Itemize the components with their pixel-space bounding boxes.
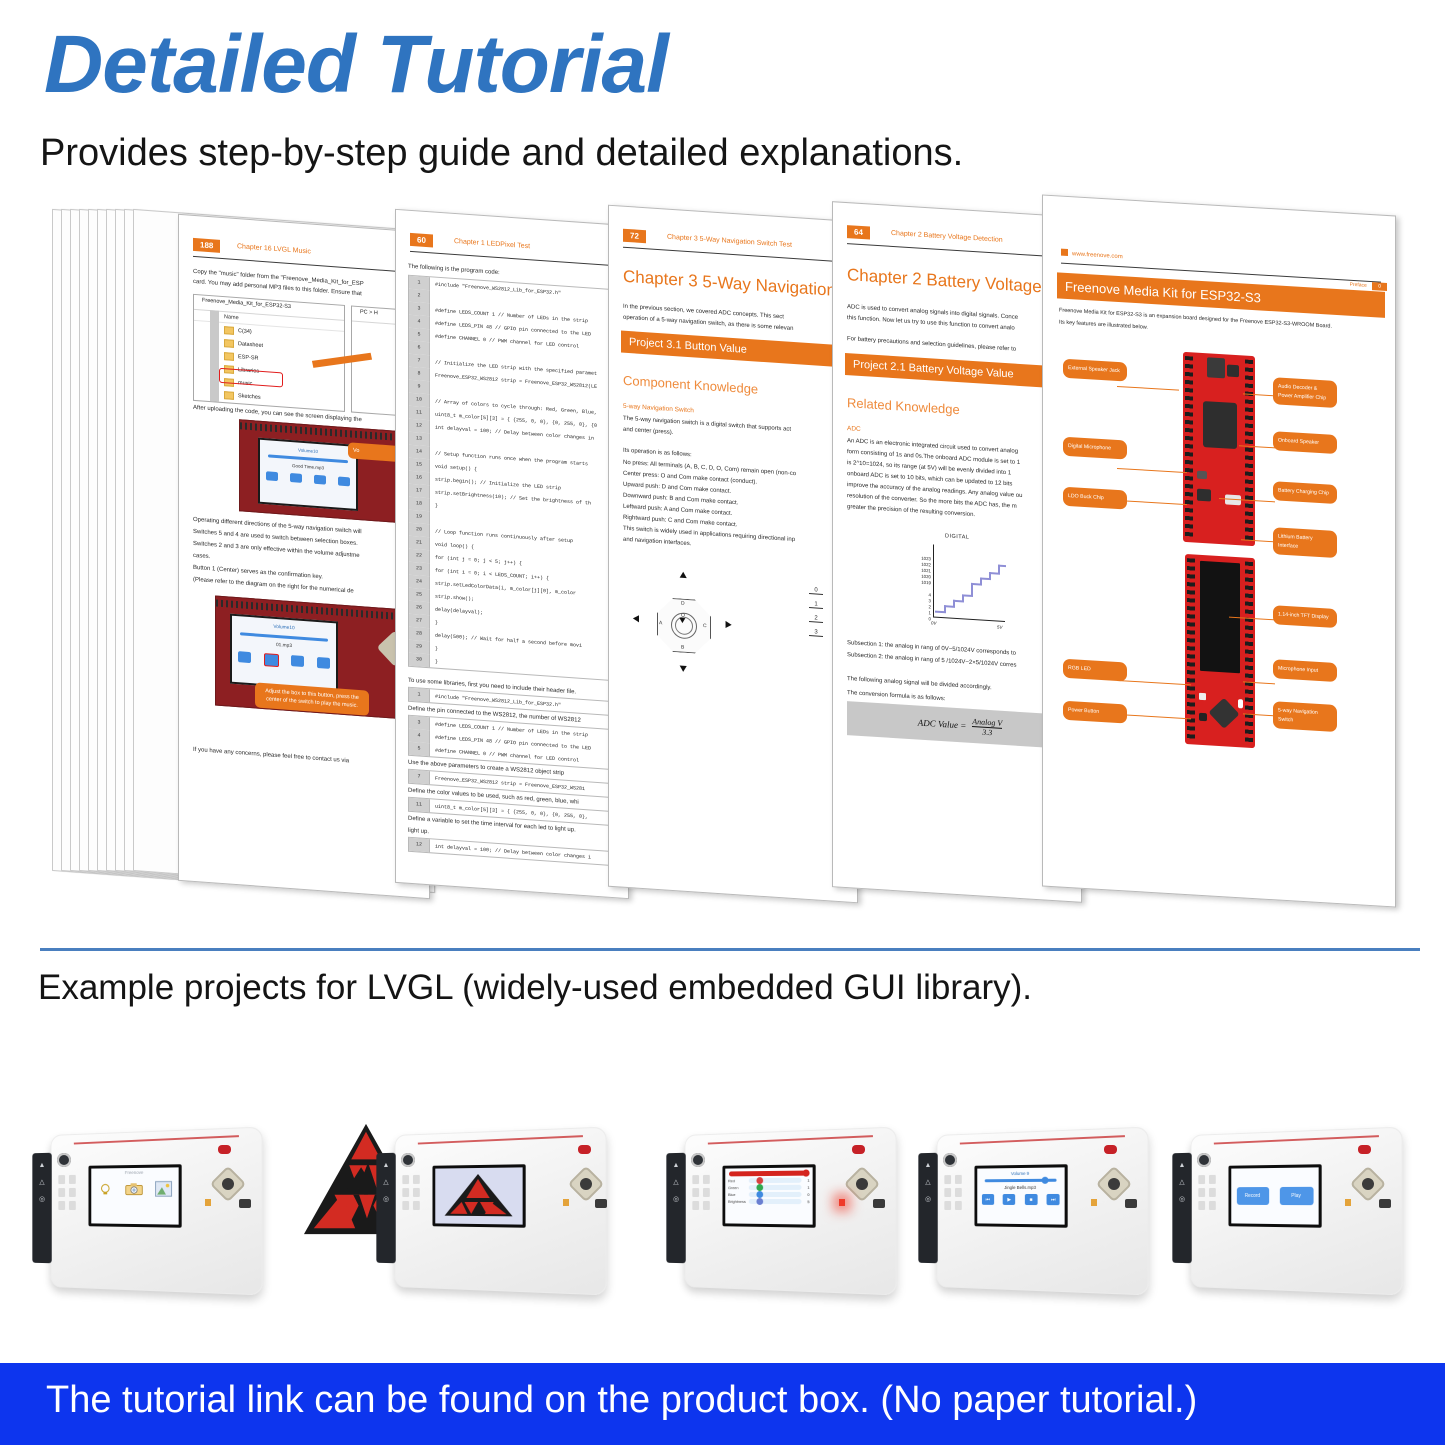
speaker-jack bbox=[401, 1153, 415, 1167]
antenna-icon: ▲ bbox=[1172, 1162, 1191, 1169]
transport-buttons: ⏮ ▶ ■ ⏭ bbox=[977, 1194, 1064, 1205]
terminal-c-label: C bbox=[703, 623, 707, 629]
rgb-led-glow bbox=[839, 1199, 845, 1206]
leader-line bbox=[1117, 680, 1191, 686]
reset-button[interactable] bbox=[578, 1145, 591, 1154]
prev-icon bbox=[238, 651, 251, 663]
description-line: and center (press). bbox=[623, 426, 673, 439]
usb-port bbox=[1125, 1199, 1137, 1208]
right-pin-header bbox=[1245, 562, 1253, 744]
running-head-text: Chapter 16 LVGL Music bbox=[237, 243, 311, 255]
top-red-bar bbox=[729, 1170, 809, 1176]
arrow-right-icon: ⯈ bbox=[723, 618, 733, 632]
device-side-panel: ▲ △ ◎ bbox=[918, 1153, 937, 1264]
grill-slot bbox=[58, 1201, 65, 1210]
brand-square-icon bbox=[1061, 249, 1068, 256]
slider-label: Red bbox=[728, 1178, 749, 1183]
speaker-jack bbox=[691, 1153, 705, 1167]
file-explorer-screenshot: Freenove_Media_Kit_for_ESP32-S3 Name C(3… bbox=[193, 294, 345, 412]
explorer-item-label: C(34) bbox=[238, 328, 252, 335]
chart-y-axis bbox=[933, 544, 934, 616]
folder-icon bbox=[224, 326, 234, 335]
slider-track[interactable] bbox=[749, 1199, 802, 1204]
slider-handle[interactable] bbox=[756, 1191, 763, 1198]
leader-line bbox=[1117, 386, 1179, 391]
tutorial-page-ledpixel: 60 Chapter 1 LEDPixel Test The following… bbox=[395, 209, 629, 899]
antenna-icon: ▲ bbox=[376, 1162, 395, 1169]
sensor-icon: ◎ bbox=[918, 1195, 937, 1203]
folder-icon bbox=[224, 391, 234, 400]
device-rgb-sliders: ▲ △ ◎ Red 1 bbox=[662, 1123, 907, 1298]
usb-port bbox=[1379, 1199, 1391, 1208]
code-text: } bbox=[430, 658, 438, 665]
track-label: Jingle Bells.mp3 bbox=[977, 1185, 1064, 1190]
reset-button[interactable] bbox=[218, 1145, 231, 1154]
footer-text: The tutorial link can be found on the pr… bbox=[46, 1379, 1197, 1422]
code-text: delay(delayval); bbox=[430, 606, 483, 616]
sensor-icon: ◎ bbox=[666, 1195, 685, 1203]
slider-track[interactable] bbox=[749, 1192, 802, 1197]
line-number: 5 bbox=[409, 742, 430, 756]
gallery-icon bbox=[154, 1181, 174, 1197]
home-icon-row bbox=[91, 1181, 178, 1197]
ldo-buck-chip bbox=[1197, 489, 1211, 502]
x-tick: 0V bbox=[931, 620, 936, 625]
folder-icon bbox=[224, 352, 234, 361]
explorer-item-label: ESP-SR bbox=[238, 354, 258, 362]
terminal-o-label: O bbox=[681, 613, 685, 619]
lcd-surface bbox=[435, 1167, 522, 1224]
label-power-button: Power Button bbox=[1063, 701, 1127, 723]
subsection-title: ADC bbox=[847, 425, 861, 433]
device-side-panel: ▲ △ ◎ bbox=[376, 1153, 395, 1264]
y-tick: 1019 bbox=[911, 579, 931, 585]
formula-fraction: Analog V 3.3 bbox=[972, 716, 1002, 737]
note-line: For battery precautions and selection gu… bbox=[847, 335, 1016, 355]
device-showcase-row: ▲ △ ◎ Freenove bbox=[0, 1035, 1445, 1325]
label-digital-microphone: Digital Microphone bbox=[1063, 437, 1127, 459]
tutorial-page-lvgl-music: 188 Chapter 16 LVGL Music Copy the "musi… bbox=[178, 214, 430, 900]
label-ldo-buck-chip: LDO Buck Chip bbox=[1063, 487, 1127, 509]
section-title: Related Knowledge bbox=[847, 395, 960, 417]
code-block-delay: 12int delayval = 100; // Delay between c… bbox=[408, 837, 628, 868]
chart-step bbox=[971, 583, 973, 597]
grill-slot bbox=[402, 1188, 409, 1197]
transport-buttons bbox=[232, 651, 336, 672]
kit-page-label-text: Preface bbox=[1350, 282, 1367, 289]
scale-tick: 0 bbox=[809, 587, 823, 595]
microphone-input bbox=[1238, 699, 1243, 708]
lvgl-band-text: Example projects for LVGL (widely-used e… bbox=[38, 968, 1032, 1008]
kit-page-label: Preface 0 bbox=[1350, 282, 1387, 290]
label-5way-navigation-switch: 5-way Navigation Switch bbox=[1273, 701, 1337, 732]
device-lcd: Volume10 01.mp3 bbox=[230, 614, 338, 692]
speaker-grill bbox=[400, 1173, 423, 1239]
onboard-speaker bbox=[1203, 401, 1237, 449]
grill-slot bbox=[58, 1175, 65, 1184]
device-screen: Freenove bbox=[88, 1164, 181, 1227]
grill-slot bbox=[703, 1175, 710, 1184]
speaker-grill bbox=[1196, 1173, 1219, 1239]
code-text: strip.show(); bbox=[430, 593, 474, 602]
device-screen: Record Play bbox=[1228, 1164, 1321, 1227]
play-icon bbox=[290, 473, 302, 483]
device-side-panel: ▲ △ ◎ bbox=[666, 1153, 685, 1264]
formula-left: ADC Value = bbox=[918, 718, 967, 731]
label-audio-decoder-amp: Audio Decoder & Power Amplifier Chip bbox=[1273, 377, 1337, 408]
label-microphone-input: Microphone Input bbox=[1273, 659, 1337, 681]
stop-icon bbox=[291, 655, 304, 667]
status-led bbox=[563, 1199, 569, 1206]
chart-title: DIGITAL bbox=[945, 533, 970, 541]
slider-value: 1 bbox=[802, 1178, 810, 1183]
media-board-top-photo bbox=[1183, 352, 1255, 546]
speaker-grill bbox=[56, 1173, 79, 1239]
folder-icon bbox=[224, 339, 234, 348]
play-icon[interactable]: ▶ bbox=[1003, 1194, 1015, 1205]
slider-handle bbox=[803, 1169, 810, 1176]
grill-slot bbox=[944, 1188, 951, 1197]
grill-slot bbox=[1209, 1188, 1216, 1197]
slider-value: 0 bbox=[802, 1192, 810, 1197]
speaker-jack bbox=[1197, 1153, 1211, 1167]
camera-icon bbox=[124, 1181, 143, 1197]
sensor-icon: ◎ bbox=[1172, 1195, 1191, 1203]
label-onboard-speaker: Onboard Speaker bbox=[1273, 431, 1337, 453]
page-subtitle: Provides step-by-step guide and detailed… bbox=[40, 132, 963, 175]
device-screen bbox=[432, 1164, 525, 1227]
code-text: int delayval = 100; // Delay between col… bbox=[430, 843, 591, 860]
speaker-jack bbox=[57, 1153, 71, 1167]
grill-slot bbox=[692, 1201, 699, 1210]
grill-slot bbox=[69, 1188, 76, 1197]
usb-port bbox=[873, 1199, 885, 1208]
subsection-title: 5-way Navigation Switch bbox=[623, 403, 694, 415]
status-led bbox=[1345, 1199, 1351, 1206]
tutorial-page-navigation-switch: 72 Chapter 3 5-Way Navigation Switch Tes… bbox=[608, 205, 858, 904]
usb-port bbox=[239, 1199, 251, 1208]
code-text: void setup() { bbox=[430, 463, 477, 472]
leader-line bbox=[1117, 500, 1187, 506]
volume-slider[interactable] bbox=[985, 1179, 1057, 1183]
slider-handle[interactable] bbox=[756, 1177, 763, 1184]
running-head-text: Chapter 3 5-Way Navigation Switch Test bbox=[667, 234, 792, 249]
speaker-grill bbox=[942, 1173, 965, 1239]
grill-slot bbox=[703, 1188, 710, 1197]
lightbulb-icon bbox=[96, 1181, 115, 1197]
media-board-bottom-photo bbox=[1185, 554, 1255, 748]
leader-line bbox=[1117, 714, 1191, 720]
grill-slot bbox=[58, 1188, 65, 1197]
device-lcd: Volume10 Good Time.mp3 bbox=[258, 438, 358, 511]
tutorial-page-media-kit-overview: www.freenove.com Freenove Media Kit for … bbox=[1042, 194, 1396, 907]
grill-slot bbox=[413, 1175, 420, 1184]
line-number: 11 bbox=[409, 798, 430, 812]
grill-slot bbox=[703, 1201, 710, 1210]
next-icon bbox=[317, 657, 330, 669]
next-icon bbox=[338, 476, 350, 486]
power-button bbox=[1199, 713, 1207, 721]
label-lithium-battery-interface: Lithium Battery Interface bbox=[1273, 527, 1337, 558]
device-side-panel: ▲ △ ◎ bbox=[32, 1153, 51, 1264]
grill-slot bbox=[402, 1175, 409, 1184]
slider-track[interactable] bbox=[749, 1185, 802, 1190]
stop-icon[interactable]: ■ bbox=[1025, 1194, 1038, 1205]
lcd-surface: Record Play bbox=[1231, 1167, 1318, 1224]
slider-handle[interactable] bbox=[756, 1198, 763, 1205]
arrow-down-icon: ⯆ bbox=[678, 662, 688, 676]
adc-staircase-chart: DIGITAL 1023 1022 1021 1020 1019 4 3 2 1… bbox=[911, 533, 1021, 636]
x-tick: 5V bbox=[997, 625, 1002, 630]
kit-page-number: 0 bbox=[1372, 282, 1387, 291]
trailing-text: light up. bbox=[408, 827, 429, 838]
device-side-panel: ▲ △ ◎ bbox=[1172, 1153, 1191, 1264]
formula-denominator: 3.3 bbox=[972, 726, 1002, 737]
antenna-icon: ▲ bbox=[666, 1162, 685, 1169]
label-rgb-led: RGB LED bbox=[1063, 659, 1127, 681]
code-block-main: 1#include "Freenove_WS2812_Lib_for_ESP32… bbox=[408, 275, 628, 683]
code-text: } bbox=[430, 645, 438, 652]
grill-slot bbox=[692, 1188, 699, 1197]
slider-green[interactable]: Green 1 bbox=[728, 1185, 810, 1190]
section-title: Component Knowledge bbox=[623, 373, 758, 397]
terminal-b-label: B bbox=[681, 645, 684, 651]
freenove-brand: www.freenove.com bbox=[1061, 249, 1123, 261]
grill-slot bbox=[692, 1175, 699, 1184]
next-icon[interactable]: ⏭ bbox=[1047, 1194, 1060, 1205]
wave-icon: △ bbox=[376, 1178, 395, 1186]
chart-step bbox=[935, 611, 944, 613]
page-title: Detailed Tutorial bbox=[44, 24, 668, 106]
reset-button[interactable] bbox=[1358, 1145, 1371, 1154]
status-led bbox=[1091, 1199, 1097, 1206]
code-text: void loop() { bbox=[430, 541, 474, 550]
antenna-icon: ▲ bbox=[918, 1162, 937, 1169]
speaker-jack bbox=[943, 1153, 957, 1167]
device-photo-music-screen: Volume10 Good Time.mp3 Vo bbox=[239, 419, 401, 523]
left-pin-header bbox=[1185, 356, 1193, 538]
line-number: 1 bbox=[409, 688, 430, 702]
slider-brightness[interactable]: Brightness 5 bbox=[728, 1199, 810, 1204]
grill-slot bbox=[413, 1188, 420, 1197]
label-external-speaker-jack: External Speaker Jack bbox=[1063, 359, 1127, 381]
screen-title: Freenove bbox=[91, 1169, 178, 1175]
play-icon bbox=[264, 653, 279, 667]
grill-slot bbox=[1198, 1175, 1205, 1184]
slider-handle[interactable] bbox=[756, 1184, 763, 1191]
track-label: 01.mp3 bbox=[232, 640, 336, 653]
transport-buttons bbox=[260, 471, 356, 487]
reset-button[interactable] bbox=[852, 1145, 865, 1154]
line-number: 7 bbox=[409, 770, 430, 784]
kit-title: Freenove Media Kit for ESP32-S3 bbox=[1065, 279, 1261, 306]
slider-label: Brightness bbox=[728, 1199, 749, 1204]
device-pyraminx-detect: ▲ △ ◎ bbox=[280, 1123, 525, 1298]
slider-value: 1 bbox=[802, 1185, 810, 1190]
navigation-switch bbox=[1208, 698, 1239, 729]
scale-tick: 1 bbox=[809, 601, 823, 609]
slider-blue[interactable]: Blue 0 bbox=[728, 1192, 810, 1197]
chapter-title: Chapter 3 5-Way Navigation S bbox=[623, 267, 852, 302]
grill-slot bbox=[1198, 1188, 1205, 1197]
volume-label: Volume 9 bbox=[977, 1170, 1064, 1176]
terminal-d-label: D bbox=[681, 601, 685, 607]
lcd-surface: Volume 9 Jingle Bells.mp3 ⏮ ▶ ■ ⏭ bbox=[977, 1167, 1064, 1224]
speaker-grill bbox=[690, 1173, 713, 1239]
device-screen: Red 1 Green 1 Blue 0 Br bbox=[722, 1164, 815, 1227]
grill-slot bbox=[413, 1201, 420, 1210]
record-button[interactable]: Record bbox=[1236, 1187, 1268, 1205]
wave-icon: △ bbox=[918, 1178, 937, 1186]
wave-icon: △ bbox=[666, 1178, 685, 1186]
device-recorder: ▲ △ ◎ Record Play bbox=[1168, 1123, 1413, 1298]
switch-value-scale: 0 1 2 3 bbox=[809, 587, 823, 644]
wave-icon: △ bbox=[32, 1178, 51, 1186]
rgb-led bbox=[1199, 693, 1206, 700]
volume-slider-handle[interactable] bbox=[1042, 1177, 1049, 1184]
usb-connector bbox=[1207, 357, 1225, 378]
play-button[interactable]: Play bbox=[1279, 1187, 1313, 1205]
stop-icon bbox=[314, 475, 326, 485]
y-tick: 0 bbox=[911, 615, 931, 621]
scale-tick: 3 bbox=[809, 629, 823, 637]
grill-slot bbox=[69, 1175, 76, 1184]
code-row: 12int delayval = 100; // Delay between c… bbox=[409, 838, 628, 867]
label-tft-display: 1.14-inch TFT Display bbox=[1273, 605, 1337, 627]
page-number-badge: 64 bbox=[847, 225, 870, 239]
explorer-scroll-rail bbox=[210, 310, 219, 402]
navigation-switch-diagram: ⯅ ⯆ ⯇ ⯈ ⯆ A B C D O bbox=[631, 569, 737, 682]
running-head-text: Chapter 2 Battery Voltage Detection bbox=[891, 230, 1003, 244]
scale-tick: 2 bbox=[809, 615, 823, 623]
grill-slot bbox=[955, 1201, 962, 1210]
poster-root: Detailed Tutorial Provides step-by-step … bbox=[0, 0, 1445, 1445]
antenna-icon: ▲ bbox=[32, 1162, 51, 1169]
arrow-up-icon: ⯅ bbox=[678, 568, 688, 582]
grill-slot bbox=[1198, 1201, 1205, 1210]
sensor-icon: ◎ bbox=[376, 1195, 395, 1203]
lcd-surface: Red 1 Green 1 Blue 0 Br bbox=[725, 1167, 812, 1224]
slider-value: 5 bbox=[802, 1199, 810, 1204]
code-text: } bbox=[430, 619, 438, 626]
slider-track[interactable] bbox=[749, 1178, 802, 1183]
page-number-badge: 188 bbox=[193, 238, 220, 253]
prev-icon bbox=[266, 471, 278, 481]
slider-label: Blue bbox=[728, 1192, 749, 1197]
slider-red[interactable]: Red 1 bbox=[728, 1178, 810, 1184]
closing-line: If you have any concerns, please feel fr… bbox=[193, 746, 429, 773]
digital-microphone bbox=[1197, 471, 1207, 480]
grill-slot bbox=[1209, 1175, 1216, 1184]
page-number-badge: 72 bbox=[623, 229, 646, 244]
grill-slot bbox=[955, 1175, 962, 1184]
device-music-player: ▲ △ ◎ Volume 9 Jingle Bells.mp3 ⏮ bbox=[914, 1123, 1159, 1298]
grill-slot bbox=[944, 1175, 951, 1184]
prev-icon[interactable]: ⏮ bbox=[982, 1194, 994, 1205]
leader-line bbox=[1117, 468, 1187, 474]
page-number-badge: 60 bbox=[410, 233, 433, 248]
detected-pyraminx-render bbox=[435, 1167, 522, 1224]
left-pin-header bbox=[1187, 558, 1195, 740]
terminal-a-label: A bbox=[659, 620, 662, 626]
usb-port bbox=[595, 1199, 607, 1208]
section-divider bbox=[40, 948, 1420, 951]
device-screen: Volume 9 Jingle Bells.mp3 ⏮ ▶ ■ ⏭ bbox=[974, 1164, 1067, 1227]
wave-icon: △ bbox=[1172, 1178, 1191, 1186]
running-head-text: Chapter 1 LEDPixel Test bbox=[454, 238, 530, 250]
explorer-item-label: Sketches bbox=[238, 393, 261, 401]
adc-formula-box: ADC Value = Analog V 3.3 bbox=[847, 701, 1073, 749]
page-running-head: 188 Chapter 16 LVGL Music bbox=[179, 237, 429, 270]
grill-slot bbox=[402, 1201, 409, 1210]
grill-slot bbox=[944, 1201, 951, 1210]
explorer-item-label: Datasheet bbox=[238, 341, 263, 349]
sensor-icon: ◎ bbox=[32, 1195, 51, 1203]
code-text: } bbox=[430, 502, 438, 509]
document-stack: 188 Chapter 16 LVGL Music Copy the "musi… bbox=[0, 195, 1445, 925]
right-pin-header bbox=[1245, 360, 1253, 542]
brand-url: www.freenove.com bbox=[1072, 251, 1123, 260]
label-battery-charging-chip: Battery Charging Chip bbox=[1273, 481, 1337, 503]
grill-slot bbox=[955, 1188, 962, 1197]
slider-label: Green bbox=[728, 1185, 749, 1190]
grill-slot bbox=[1209, 1201, 1216, 1210]
audio-decoder-chip bbox=[1227, 364, 1239, 377]
line-number: 30 bbox=[409, 653, 430, 667]
reset-button[interactable] bbox=[1104, 1145, 1117, 1154]
project-banner: Project 3.1 Button Value bbox=[621, 331, 857, 369]
line-number: 12 bbox=[409, 838, 430, 852]
status-led bbox=[205, 1199, 211, 1206]
footer-banner: The tutorial link can be found on the pr… bbox=[0, 1363, 1445, 1445]
lcd-surface: Freenove bbox=[91, 1167, 178, 1224]
arrow-left-icon: ⯇ bbox=[631, 612, 641, 626]
grill-slot bbox=[69, 1201, 76, 1210]
device-camera-home: ▲ △ ◎ Freenove bbox=[28, 1123, 273, 1298]
chart-x-axis bbox=[933, 616, 1005, 622]
